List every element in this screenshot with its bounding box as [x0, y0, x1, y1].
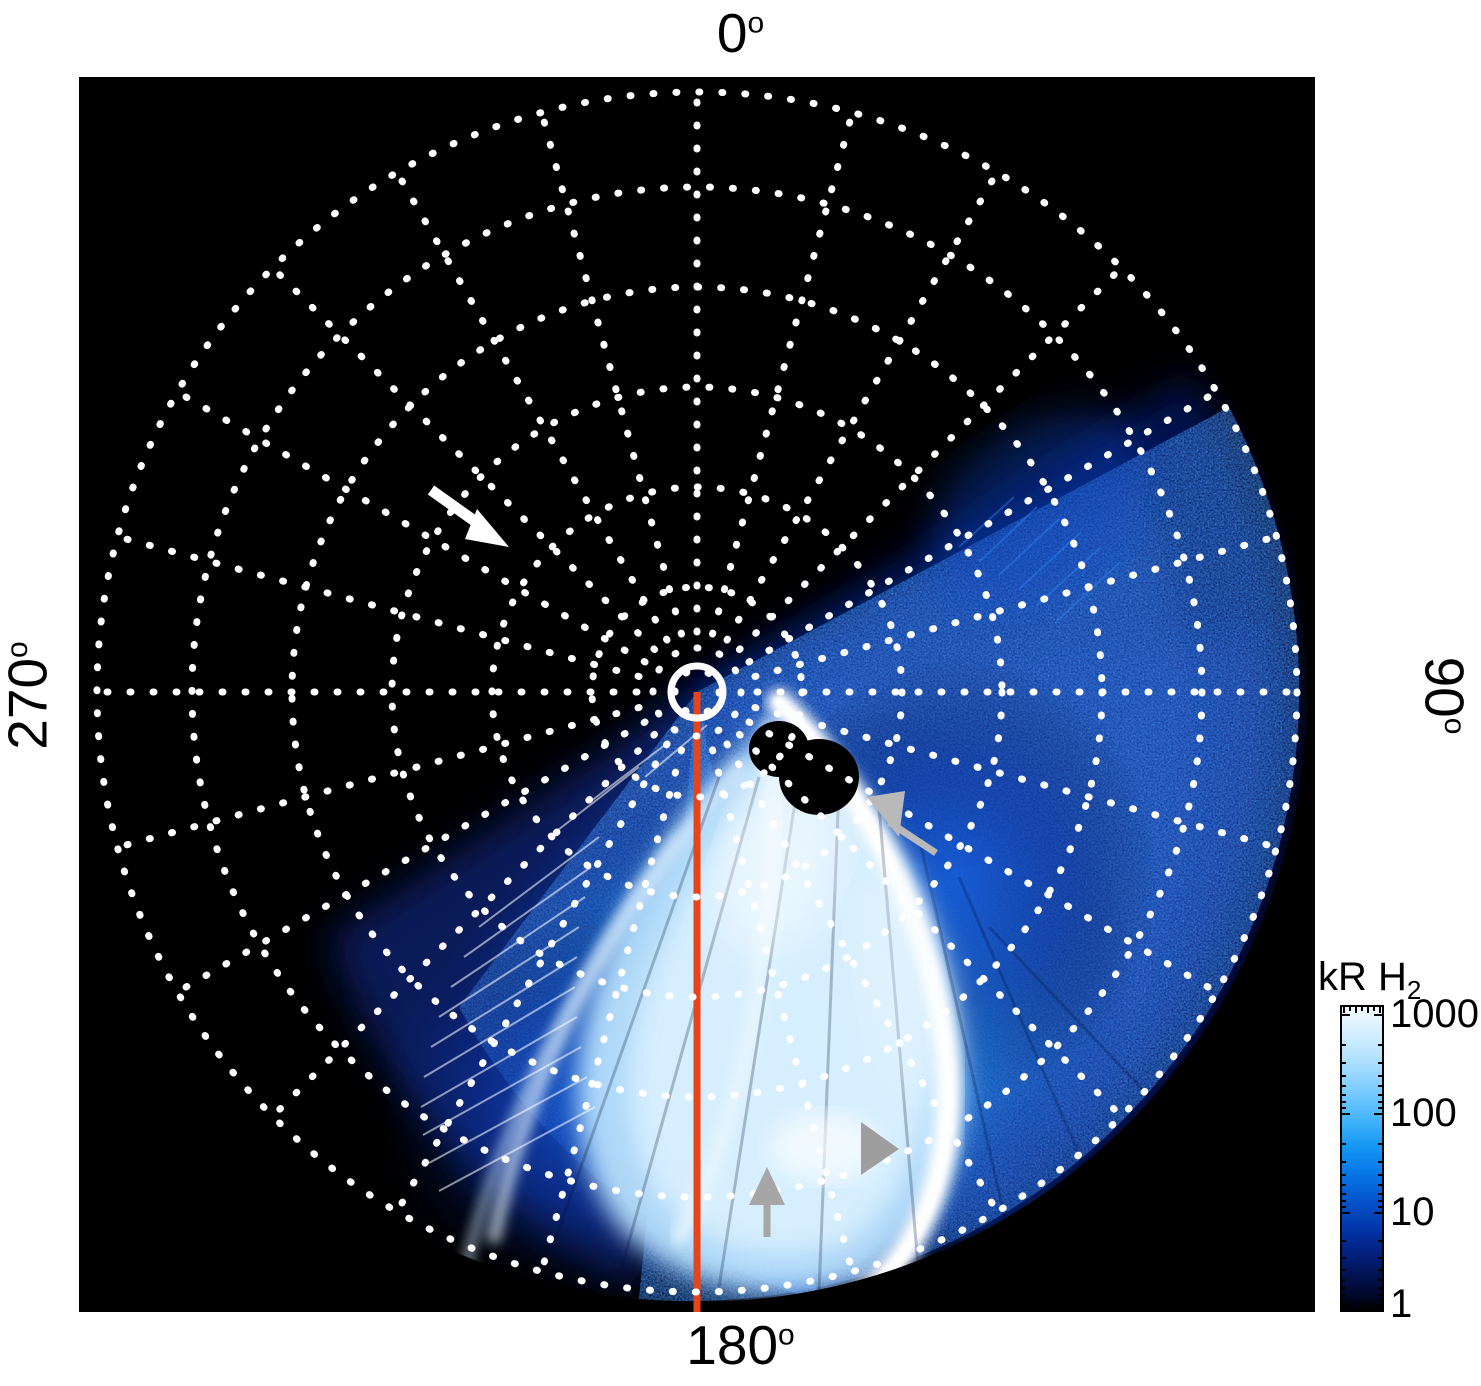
axis-label-0-deg: 0o [0, 6, 1481, 61]
colorbar: kR H2 [1318, 950, 1481, 1330]
colorbar-tick-labels: 1000 100 10 1 [1390, 990, 1480, 1320]
figure-root: 0o 180o 270o 90o kR H2 [0, 0, 1481, 1386]
colorbar-tick-1000: 1000 [1390, 994, 1479, 1034]
polar-plot-svg [79, 77, 1315, 1312]
annotation-arrow-white-upper-left [431, 490, 509, 547]
colorbar-tick-1: 1 [1390, 1284, 1412, 1324]
polar-plot-panel [79, 77, 1315, 1312]
colorbar-ticks [1340, 1005, 1384, 1312]
colorbar-tick-10: 10 [1390, 1192, 1435, 1232]
axis-label-270-deg: 270o [1, 616, 56, 776]
axis-label-180-deg: 180o [0, 1318, 1481, 1373]
colorbar-tick-100: 100 [1390, 1093, 1457, 1133]
axis-label-90-deg: 90o [1417, 616, 1472, 776]
